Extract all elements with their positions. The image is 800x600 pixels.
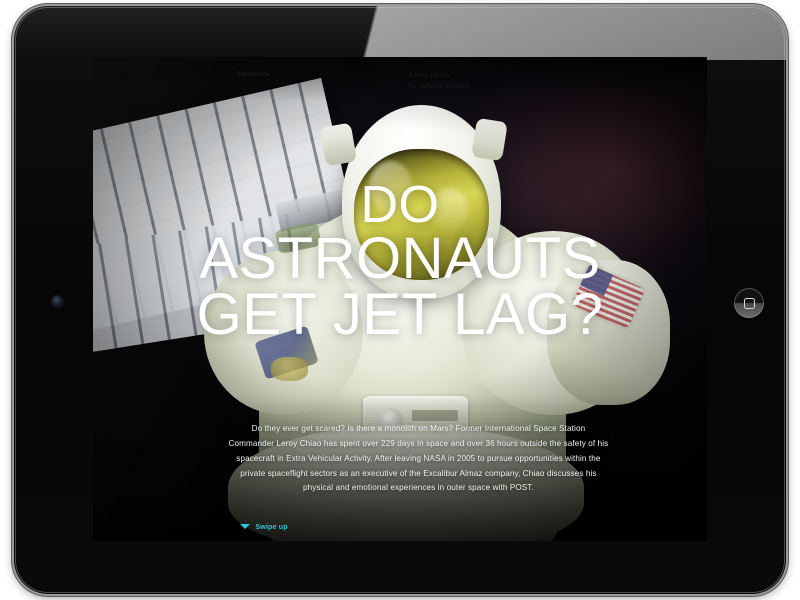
headline-line-1: DO [101, 180, 699, 230]
swipe-up-control[interactable]: Swipe up [240, 522, 287, 531]
headline-line-3: GET JET LAG? [101, 287, 699, 343]
article-kicker: Interview [237, 69, 270, 78]
article-byline: Leroy Chiao by Johnny Misheff [409, 69, 469, 92]
home-button[interactable] [734, 288, 764, 318]
article-content-overlay: Interview Leroy Chiao by Johnny Misheff … [93, 57, 707, 541]
ipad-screen[interactable]: Interview Leroy Chiao by Johnny Misheff … [93, 57, 707, 541]
page-title: DO ASTRONAUTS GET JET LAG? [93, 180, 707, 343]
home-button-glyph-icon [744, 298, 755, 309]
ipad-device: Interview Leroy Chiao by Johnny Misheff … [14, 6, 786, 594]
article-deck: Do they ever get scared? Is there a mono… [228, 422, 609, 496]
screenshot-stage: Interview Leroy Chiao by Johnny Misheff … [0, 0, 800, 600]
triangle-down-icon [240, 524, 250, 529]
bezel-glare [14, 6, 786, 60]
swipe-up-label: Swipe up [255, 522, 287, 531]
byline-author: by Johnny Misheff [409, 80, 469, 92]
front-camera-icon [52, 296, 63, 307]
bezel-glare-soft [14, 6, 786, 58]
headline-line-2: ASTRONAUTS [101, 231, 699, 287]
byline-subject-name: Leroy Chiao [409, 69, 469, 81]
